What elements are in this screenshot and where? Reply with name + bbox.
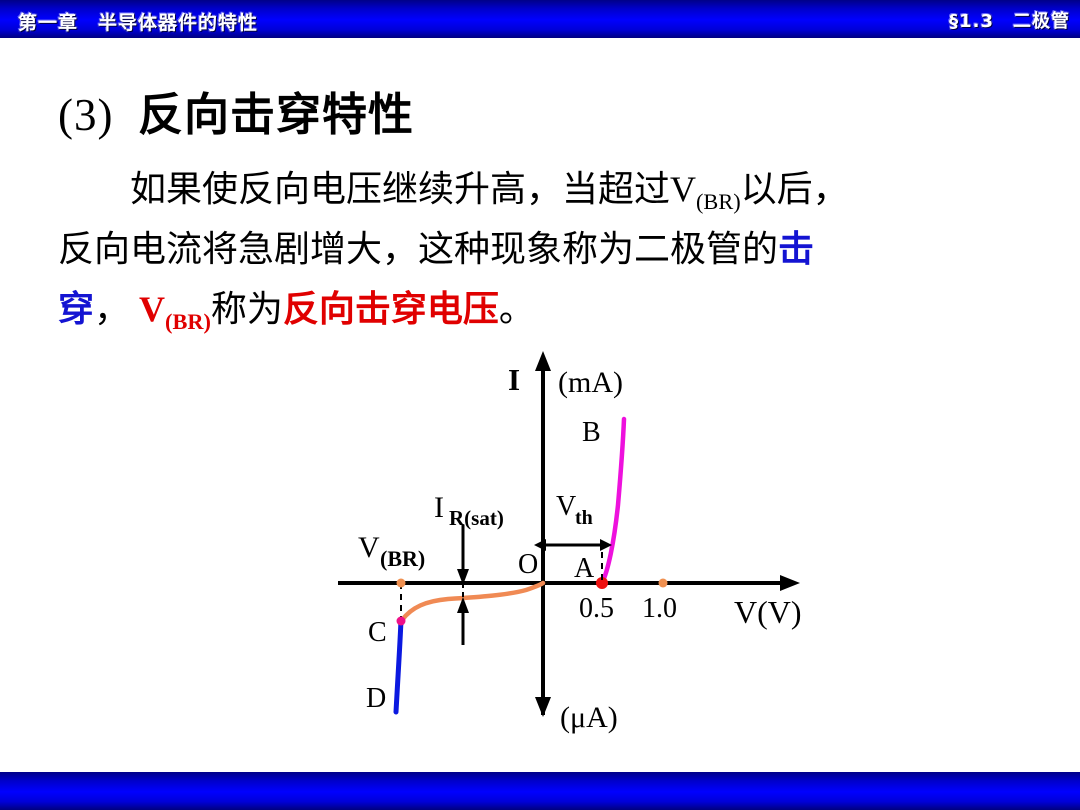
vth-annotation-subscript: th <box>575 507 593 529</box>
point-d-label: D <box>366 683 386 714</box>
point-c-dot <box>397 617 406 626</box>
iv-characteristic-diagram: I (mA) (μA) V(V) O A B C D V (BR) I R(sa… <box>330 345 830 745</box>
vbr-annotation-subscript: (BR) <box>380 546 425 571</box>
slide-title-text: 反向击穿特性 <box>138 90 414 140</box>
x-tick-label-0: 0.5 <box>579 593 614 624</box>
y-axis-label-i: I <box>508 362 520 397</box>
paragraph-line-3-comma: ， <box>94 289 130 329</box>
vth-annotation-symbol: V <box>556 491 576 522</box>
header-section-title: §1.3 二极管 <box>949 7 1070 33</box>
y-axis-down-arrow-icon <box>535 697 551 717</box>
keyword-breakdown-part1: 击 <box>778 229 814 269</box>
paragraph-line-3-period: 。 <box>499 289 535 329</box>
irsat-annotation-symbol: I <box>434 491 444 524</box>
vth-annotation: V th <box>556 491 593 529</box>
paragraph-line-3-text-b: 称为 <box>211 289 283 329</box>
header-chapter-title: 第一章 半导体器件的特性 <box>18 8 258 35</box>
irsat-annotation-subscript: R(sat) <box>449 506 504 530</box>
tick-dot-one-point-zero <box>659 579 668 588</box>
paragraph-line-1-subscript: (BR) <box>696 189 741 214</box>
paragraph-line-1-text-a: 如果使反向电压继续升高，当超过V <box>130 169 696 209</box>
x-tick-label-1: 1.0 <box>642 593 677 624</box>
paragraph-line-3: 穿， V(BR)称为反向击穿电压。 <box>58 280 535 335</box>
reverse-leakage-curve <box>402 583 543 620</box>
paragraph-line-1-text-b: 以后， <box>741 169 849 209</box>
breakdown-curve <box>396 620 401 712</box>
irsat-annotation: I R(sat) <box>434 491 504 530</box>
point-c-label: C <box>368 617 387 648</box>
origin-label: O <box>518 549 538 580</box>
point-b-label: B <box>582 417 601 448</box>
vbr-symbol: V <box>139 289 165 329</box>
vth-double-arrow <box>534 539 612 551</box>
slide-title-number: (3) <box>58 90 113 140</box>
x-axis-arrow-icon <box>780 575 800 591</box>
slide-title: (3) 反向击穿特性 <box>58 78 414 143</box>
paragraph-line-2: 反向电流将急剧增大，这种现象称为二极管的击 <box>58 220 814 272</box>
y-axis-unit-ma: (mA) <box>558 366 623 399</box>
vbr-annotation: V (BR) <box>358 531 425 571</box>
x-axis-label-v: V(V) <box>734 594 802 630</box>
axes-group <box>338 351 800 717</box>
vbr-annotation-symbol: V <box>358 531 380 564</box>
vbr-symbol-subscript: (BR) <box>165 309 211 334</box>
keyword-breakdown-voltage: 反向击穿电压 <box>283 289 499 329</box>
footer-bar <box>0 772 1080 810</box>
paragraph-line-2-text: 反向电流将急剧增大，这种现象称为二极管的 <box>58 229 778 269</box>
vbr-tick-dot <box>397 579 406 588</box>
y-axis-up-arrow-icon <box>535 351 551 371</box>
keyword-breakdown-part2: 穿 <box>58 289 94 329</box>
paragraph-line-1: 如果使反向电压继续升高，当超过V(BR)以后， <box>58 160 849 215</box>
point-a-label: A <box>574 553 595 584</box>
forward-bias-curve <box>602 419 624 583</box>
y-axis-unit-ua: (μA) <box>560 701 618 734</box>
